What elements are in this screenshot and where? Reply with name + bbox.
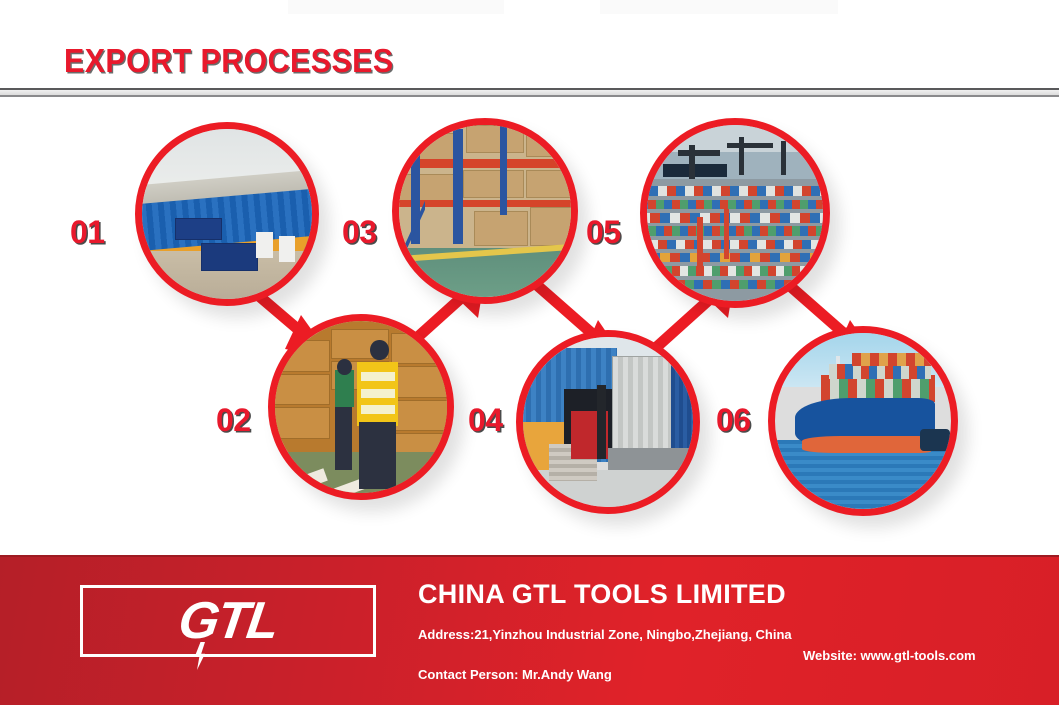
- header: EXPORT PROCESSES: [0, 40, 1059, 102]
- company-logo: GTL: [80, 585, 376, 657]
- footer: GTL CHINA GTL TOOLS LIMITED Address:21,Y…: [0, 555, 1059, 705]
- step-image-04[interactable]: [516, 330, 700, 514]
- header-divider: [0, 88, 1059, 97]
- page-title: EXPORT PROCESSES: [64, 42, 394, 80]
- company-address: Address:21,Yinzhou Industrial Zone, Ning…: [418, 627, 792, 642]
- step-image-05[interactable]: [640, 118, 830, 308]
- step-number-06: 06: [716, 402, 751, 439]
- step-number-02: 02: [216, 402, 251, 439]
- poster-page: EXPORT PROCESSES: [0, 0, 1059, 703]
- step-image-06[interactable]: [768, 326, 958, 516]
- step-image-01[interactable]: [135, 122, 319, 306]
- company-website[interactable]: Website: www.gtl-tools.com: [803, 648, 976, 663]
- step-number-03: 03: [342, 214, 377, 251]
- step-image-02[interactable]: [268, 314, 454, 500]
- step-image-03[interactable]: [392, 118, 578, 304]
- top-panel-left: [288, 0, 504, 14]
- step-number-04: 04: [468, 402, 503, 439]
- process-flow: 01 02: [0, 102, 1059, 552]
- company-name: CHINA GTL TOOLS LIMITED: [418, 579, 786, 610]
- step-number-01: 01: [70, 214, 105, 251]
- step-number-05: 05: [586, 214, 621, 251]
- contact-person: Contact Person: Mr.Andy Wang: [418, 667, 612, 682]
- top-panel-right: [600, 0, 838, 14]
- logo-text: GTL: [78, 588, 377, 654]
